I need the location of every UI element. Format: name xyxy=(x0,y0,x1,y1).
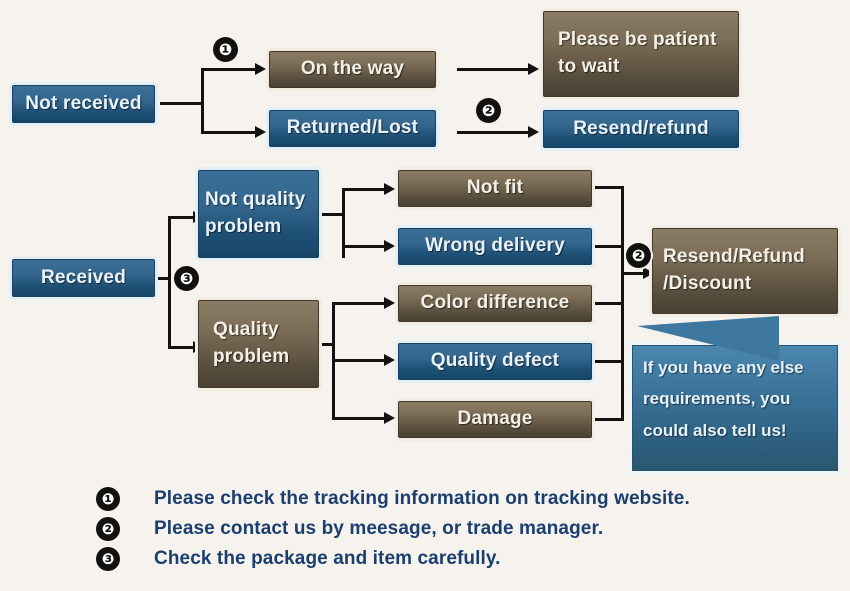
connector-quality-defect-merge xyxy=(594,360,624,363)
node-please-be-patient-label: Please be patient to wait xyxy=(544,27,738,81)
node-color-difference[interactable]: Color difference xyxy=(398,285,592,322)
node-color-difference-label: Color difference xyxy=(399,290,591,317)
callout-bubble: If you have any else requirements, you c… xyxy=(632,345,838,471)
legend-badge-3: ❸ xyxy=(96,547,120,571)
node-resend-refund[interactable]: Resend/refund xyxy=(543,110,739,148)
arrow-to-damage xyxy=(384,412,395,424)
node-returned-lost-label: Returned/Lost xyxy=(270,115,435,142)
node-not-fit-label: Not fit xyxy=(399,175,591,202)
legend-text-3: Check the package and item carefully. xyxy=(154,548,501,570)
node-quality-problem-line1: Quality xyxy=(213,319,279,340)
arrow-to-please-be-patient xyxy=(528,63,539,75)
connector-on-the-way-to-patient xyxy=(457,68,530,71)
legend-row: ❶ Please check the tracking information … xyxy=(96,484,796,514)
connector-not-fit-merge xyxy=(594,186,624,189)
node-please-be-patient-line1: Please be patient xyxy=(558,29,717,50)
connector-to-wrong-delivery xyxy=(342,245,386,248)
arrow-to-quality-defect xyxy=(384,354,395,366)
legend: ❶ Please check the tracking information … xyxy=(96,484,796,574)
connector-to-returned-lost xyxy=(201,131,257,134)
node-wrong-delivery-label: Wrong delivery xyxy=(399,233,591,260)
badge-3-middle: ❸ xyxy=(174,266,199,291)
legend-text-2: Please contact us by meesage, or trade m… xyxy=(154,518,603,540)
connector-to-quality xyxy=(168,346,196,349)
arrow-to-on-the-way xyxy=(255,63,266,75)
connector-split-middle xyxy=(168,216,171,349)
legend-row: ❷ Please contact us by meesage, or trade… xyxy=(96,514,796,544)
badge-2-right: ❷ xyxy=(626,243,651,268)
arrow-to-wrong-delivery xyxy=(384,240,395,252)
node-damage-label: Damage xyxy=(399,406,591,433)
connector-merge-bus xyxy=(621,186,624,421)
node-wrong-delivery[interactable]: Wrong delivery xyxy=(398,228,592,265)
arrow-to-color-difference xyxy=(384,297,395,309)
node-not-quality-problem[interactable]: Not quality problem xyxy=(198,170,319,258)
callout-bubble-tail xyxy=(637,316,779,361)
node-not-received-label: Not received xyxy=(13,91,154,118)
node-quality-problem-line2: problem xyxy=(213,346,289,367)
node-not-quality-problem-label: Not quality problem xyxy=(199,187,318,241)
connector-to-not-fit xyxy=(342,188,386,191)
badge-1-top: ❶ xyxy=(213,37,238,62)
node-resend-refund-discount-line1: Resend/Refund xyxy=(663,246,805,267)
connector-damage-merge xyxy=(594,418,624,421)
node-received-label: Received xyxy=(13,265,154,292)
node-resend-refund-discount-line2: /Discount xyxy=(663,273,751,294)
connector-returned-to-resend xyxy=(457,131,530,134)
node-on-the-way-label: On the way xyxy=(270,56,435,83)
node-not-received[interactable]: Not received xyxy=(12,85,155,123)
arrow-to-resend-refund xyxy=(528,126,539,138)
legend-text-1: Please check the tracking information on… xyxy=(154,488,690,510)
node-please-be-patient-line2: to wait xyxy=(558,56,620,77)
flowchart-canvas: Not received ❶ On the way Returned/Lost … xyxy=(0,0,850,591)
legend-badge-2: ❷ xyxy=(96,517,120,541)
legend-badge-1: ❶ xyxy=(96,487,120,511)
node-resend-refund-discount-label: Resend/Refund /Discount xyxy=(653,244,837,298)
node-quality-problem[interactable]: Quality problem xyxy=(198,300,319,388)
node-returned-lost[interactable]: Returned/Lost xyxy=(269,110,436,147)
connector-to-not-quality xyxy=(168,216,196,219)
node-damage[interactable]: Damage xyxy=(398,401,592,438)
node-resend-refund-label: Resend/refund xyxy=(544,116,738,143)
node-quality-defect[interactable]: Quality defect xyxy=(398,343,592,380)
node-quality-problem-label: Quality problem xyxy=(199,317,318,371)
node-please-be-patient[interactable]: Please be patient to wait xyxy=(543,11,739,97)
connector-to-quality-defect xyxy=(332,359,386,362)
node-not-fit[interactable]: Not fit xyxy=(398,170,592,207)
connector-to-color-difference xyxy=(332,302,386,305)
node-received[interactable]: Received xyxy=(12,259,155,297)
connector-not-received-out xyxy=(160,102,203,105)
node-not-quality-problem-line2: problem xyxy=(205,216,281,237)
legend-row: ❸ Check the package and item carefully. xyxy=(96,544,796,574)
callout-line-2: requirements, you xyxy=(643,383,827,414)
arrow-to-returned-lost xyxy=(255,126,266,138)
badge-2-top: ❷ xyxy=(476,98,501,123)
arrow-to-not-fit xyxy=(384,183,395,195)
connector-to-damage xyxy=(332,417,386,420)
node-not-quality-problem-line1: Not quality xyxy=(205,189,305,210)
connector-to-on-the-way xyxy=(201,68,257,71)
callout-line-3: could also tell us! xyxy=(643,415,827,446)
connector-color-difference-merge xyxy=(594,302,624,305)
node-resend-refund-discount[interactable]: Resend/Refund /Discount xyxy=(652,228,838,314)
node-on-the-way[interactable]: On the way xyxy=(269,51,436,88)
connector-split-top xyxy=(201,68,204,134)
node-quality-defect-label: Quality defect xyxy=(399,348,591,375)
connector-wrong-delivery-merge xyxy=(594,245,624,248)
